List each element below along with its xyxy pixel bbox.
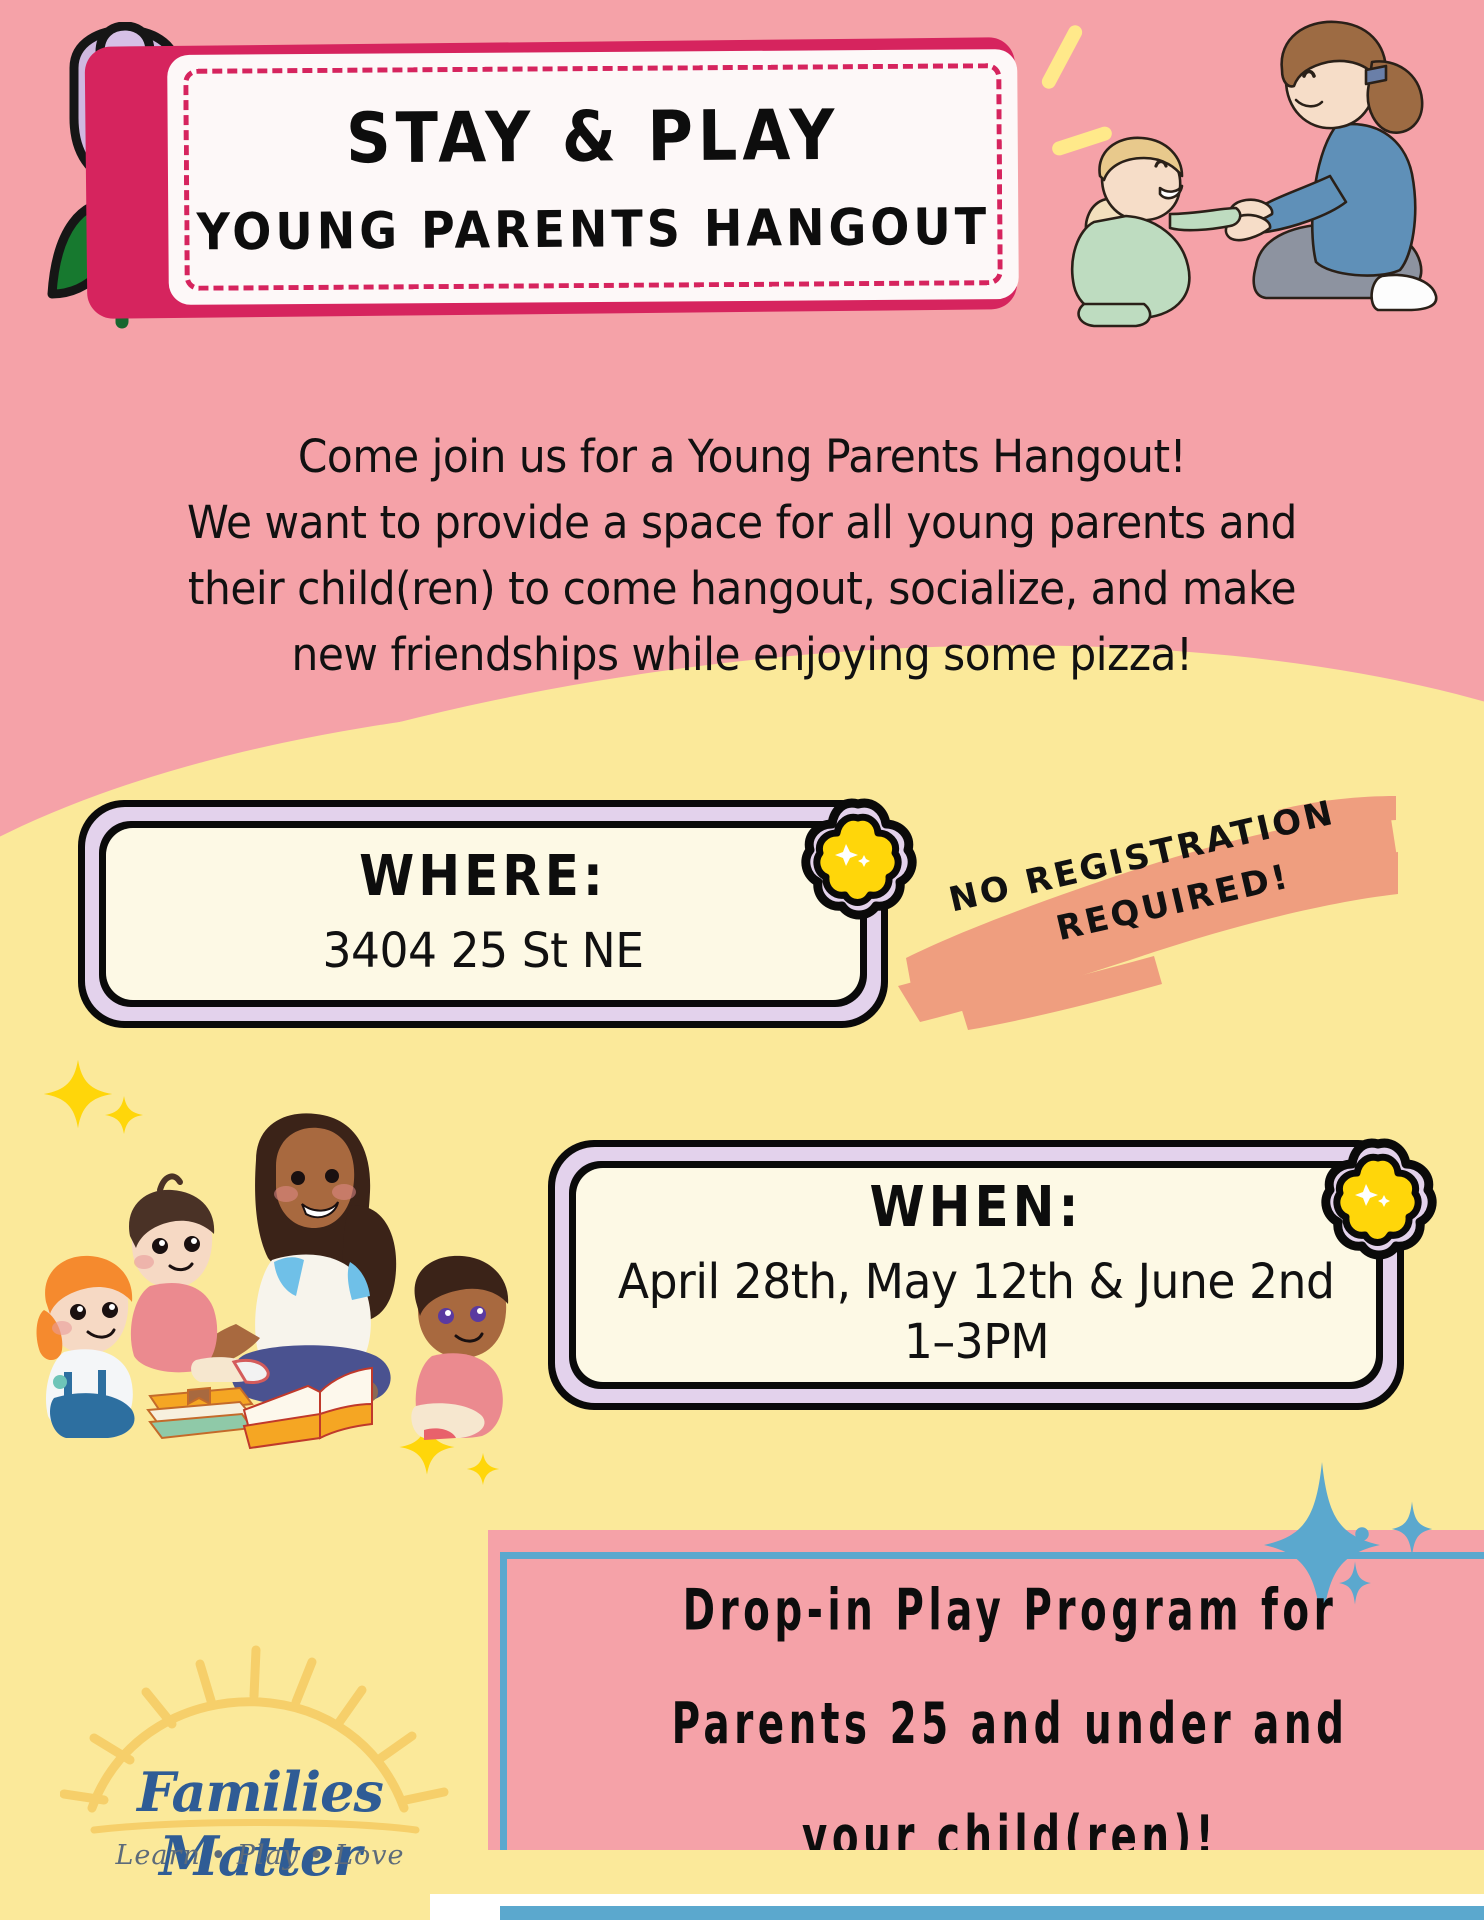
where-value: 3404 25 St NE — [322, 921, 643, 981]
intro-line: new friendships while enjoying some pizz… — [120, 622, 1365, 688]
when-value-dates: April 28th, May 12th & June 2nd — [618, 1252, 1335, 1312]
poster-canvas: STAY & PLAY YOUNG PARENTS HANGOUT — [0, 0, 1484, 1920]
footer-line: Drop-in Play Program for — [605, 1554, 1415, 1667]
where-info-box: WHERE: 3404 25 St NE — [78, 800, 888, 1028]
intro-line: We want to provide a space for all young… — [120, 490, 1365, 556]
header-card: STAY & PLAY YOUNG PARENTS HANGOUT — [167, 49, 1019, 305]
mother-and-baby-illustration — [1060, 18, 1484, 328]
sparkle-dot-icon — [1353, 1525, 1371, 1547]
when-info-box: WHEN: April 28th, May 12th & June 2nd 1–… — [548, 1140, 1404, 1410]
when-label: WHEN: — [870, 1175, 1083, 1240]
sparkle-four-point-icon — [1390, 1500, 1434, 1562]
intro-line: Come join us for a Young Parents Hangout… — [120, 424, 1365, 490]
logo-tagline: Learn • Play • Love — [60, 1840, 460, 1871]
page-subtitle: YOUNG PARENTS HANGOUT — [168, 196, 1018, 261]
sparkle-star-icon — [466, 1452, 500, 1490]
when-value-time: 1–3PM — [903, 1312, 1048, 1372]
footer-line: Parents 25 and under and — [605, 1667, 1415, 1780]
footer-text: Drop-in Play Program for Parents 25 and … — [605, 1554, 1415, 1894]
page-title: STAY & PLAY — [167, 93, 1018, 181]
star-badge-icon — [1318, 1138, 1438, 1268]
footer-blue-strip — [500, 1906, 1484, 1920]
families-matter-logo: Families Matter Learn • Play • Love — [60, 1640, 460, 1910]
intro-paragraph: Come join us for a Young Parents Hangout… — [120, 424, 1365, 688]
intro-line: their child(ren) to come hangout, social… — [120, 556, 1365, 622]
where-label: WHERE: — [359, 844, 607, 909]
kids-reading-illustration — [20, 1110, 520, 1450]
